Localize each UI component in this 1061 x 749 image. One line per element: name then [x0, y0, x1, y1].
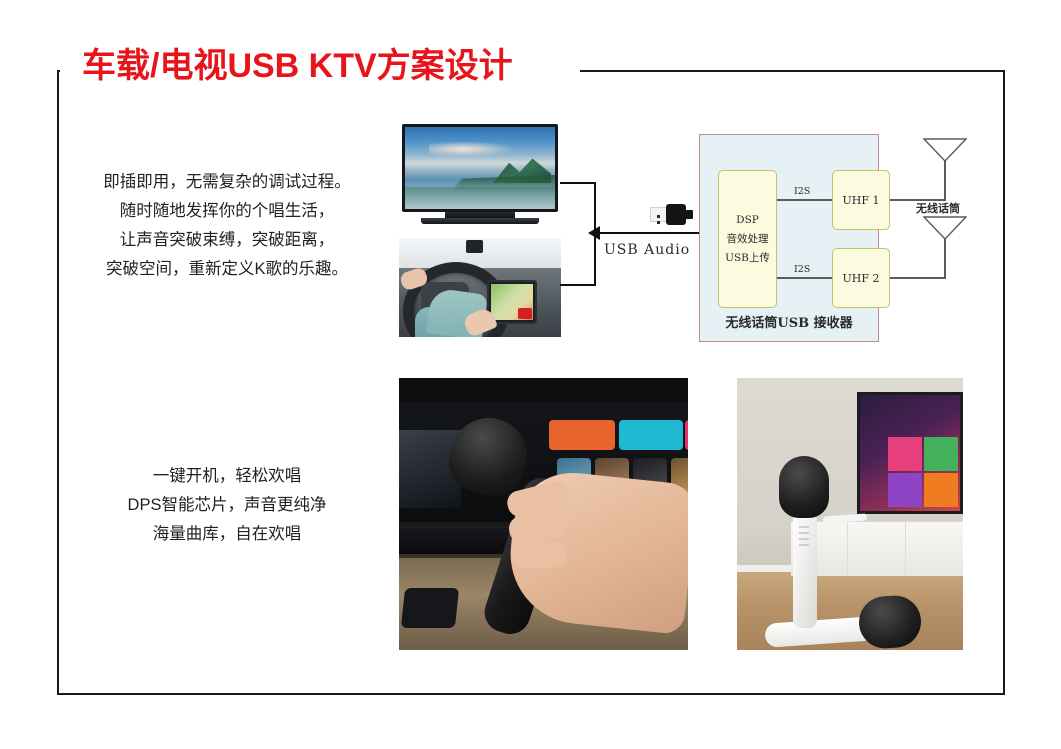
page-title: 车载/电视USB KTV方案设计 — [82, 44, 513, 88]
uhf2-block: UHF 2 — [832, 248, 890, 308]
dsp-block-title: DSP — [736, 211, 759, 230]
usb-audio-label: USB Audio — [604, 242, 690, 258]
car-console-screen-tile — [518, 308, 532, 319]
wireless-mic-label: 无线话筒 — [916, 200, 960, 216]
room-tv-tile-orange — [924, 473, 958, 507]
dsp-block: DSP 音效处理 USB上传 — [718, 170, 777, 308]
feature-line-2: DPS智能芯片，声音更纯净 — [72, 491, 382, 520]
antenna-stem-1 — [944, 161, 946, 201]
receiver-caption: 无线话筒USB 接收器 — [699, 312, 879, 331]
tv-screen-cloud — [429, 141, 515, 157]
feature-line-3: 海量曲库，自在欢唱 — [72, 520, 382, 549]
intro-paragraph: 即插即用，无需复杂的调试过程。 随时随地发挥你的个唱生活， 让声音突破束缚，突破… — [72, 168, 382, 284]
antenna-icon — [923, 138, 967, 162]
usb-pin — [657, 221, 660, 224]
intro-line-2: 随时随地发挥你的个唱生活， — [72, 197, 382, 226]
room-cabinet-seam — [847, 522, 848, 576]
room-cabinet-seam — [905, 522, 906, 576]
i2s-connector-line-2 — [777, 277, 832, 279]
mic-in-room-photo — [737, 378, 963, 650]
left-arrow-icon — [588, 226, 600, 240]
car-interior-photo — [399, 238, 561, 337]
antenna-stem-2 — [944, 239, 946, 279]
usb-connector-icon — [648, 203, 694, 227]
i2s-label-1: I2S — [794, 186, 810, 197]
room-tv-tile-green — [924, 437, 958, 471]
uhf1-block: UHF 1 — [832, 170, 890, 230]
mic-car-screen-tile-orange — [549, 420, 615, 450]
tv-photo — [399, 122, 561, 229]
usb-plug-tip — [684, 210, 693, 219]
room-tv-tile-purple — [888, 473, 922, 507]
tv-screen-image — [405, 127, 555, 209]
feature-line-1: 一键开机，轻松欢唱 — [72, 462, 382, 491]
tv-screen-water — [405, 187, 555, 209]
microphone-control-buttons — [799, 526, 809, 548]
mic-car-air-vent — [401, 588, 459, 628]
finger — [513, 541, 568, 569]
room-tv — [857, 392, 963, 514]
mic-car-screen-tile-cyan — [619, 420, 683, 450]
mic-in-car-photo — [399, 378, 688, 650]
wire-tv-branch — [560, 182, 596, 184]
room-tv-tile-pink — [888, 437, 922, 471]
usb-plug-body — [666, 204, 686, 225]
dsp-block-line-3: USB上传 — [725, 249, 770, 268]
tv-stand-base — [421, 218, 539, 224]
i2s-label-2: I2S — [794, 264, 810, 275]
wire-car-branch — [560, 284, 596, 286]
car-dashcam — [466, 240, 483, 253]
dsp-block-line-2: 音效处理 — [727, 230, 769, 249]
wire-usb-audio-link — [596, 232, 700, 234]
i2s-connector-line-1 — [777, 199, 832, 201]
microphone-foam-head-standing — [779, 456, 829, 518]
antenna-connector-line-2 — [890, 277, 946, 279]
intro-line-1: 即插即用，无需复杂的调试过程。 — [72, 168, 382, 197]
intro-line-3: 让声音突破束缚，突破距离， — [72, 226, 382, 255]
intro-line-4: 突破空间，重新定义K歌的乐趣。 — [72, 255, 382, 284]
antenna-icon — [923, 216, 967, 240]
tv-bezel — [402, 124, 558, 212]
mic-car-screen-tile-pink — [685, 420, 688, 450]
feature-paragraph: 一键开机，轻松欢唱 DPS智能芯片，声音更纯净 海量曲库，自在欢唱 — [72, 462, 382, 549]
usb-pin — [657, 215, 660, 218]
